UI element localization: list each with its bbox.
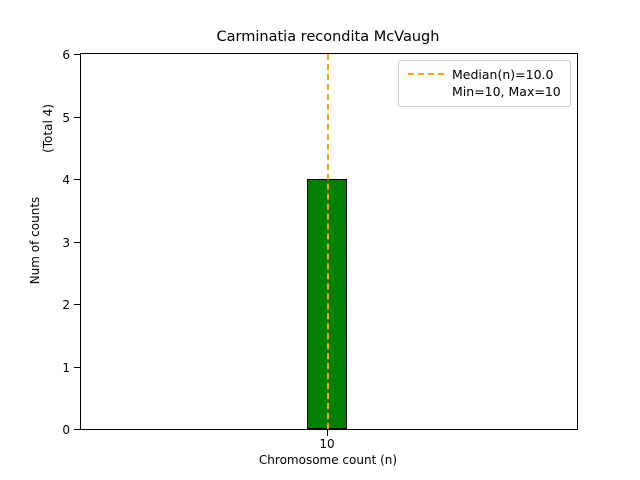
- median-line: [327, 54, 329, 429]
- figure-canvas: Carminatia recondita McVaugh 0 1 2 3 4 5…: [0, 0, 640, 480]
- y-tick-label-5: 5: [62, 112, 70, 124]
- y-tick-0: 0: [74, 429, 81, 430]
- y-tick-6: 6: [74, 54, 81, 55]
- x-tick-10: [327, 429, 328, 436]
- page-title: Carminatia recondita McVaugh: [80, 29, 576, 45]
- y-tick-label-6: 6: [62, 49, 70, 61]
- y-tick-5: 5: [74, 117, 81, 118]
- y-tick-label-1: 1: [62, 362, 70, 374]
- y-axis-total-label-text: (Total 4): [41, 0, 55, 316]
- plot-area: 0 1 2 3 4 5 6 10: [80, 53, 578, 430]
- x-tick-label-10: 10: [319, 438, 334, 450]
- y-tick-1: 1: [74, 367, 81, 368]
- y-tick-4: 4: [74, 179, 81, 180]
- median-line-swatch-icon: [408, 73, 444, 75]
- y-tick-2: 2: [74, 304, 81, 305]
- legend-entry-median: Median(n)=10.0: [452, 66, 561, 83]
- legend-entry-minmax: Min=10, Max=10: [452, 83, 561, 100]
- x-axis-label: Chromosome count (n): [80, 453, 576, 467]
- y-tick-label-4: 4: [62, 174, 70, 186]
- y-tick-label-0: 0: [62, 424, 70, 436]
- y-tick-label-3: 3: [62, 237, 70, 249]
- legend[interactable]: Median(n)=10.0 Min=10, Max=10: [398, 60, 571, 107]
- y-tick-3: 3: [74, 242, 81, 243]
- y-tick-label-2: 2: [62, 299, 70, 311]
- y-axis-total-label: (Total 4): [41, 53, 59, 428]
- legend-swatch-wrap: [408, 66, 444, 83]
- legend-text: Median(n)=10.0 Min=10, Max=10: [452, 66, 561, 100]
